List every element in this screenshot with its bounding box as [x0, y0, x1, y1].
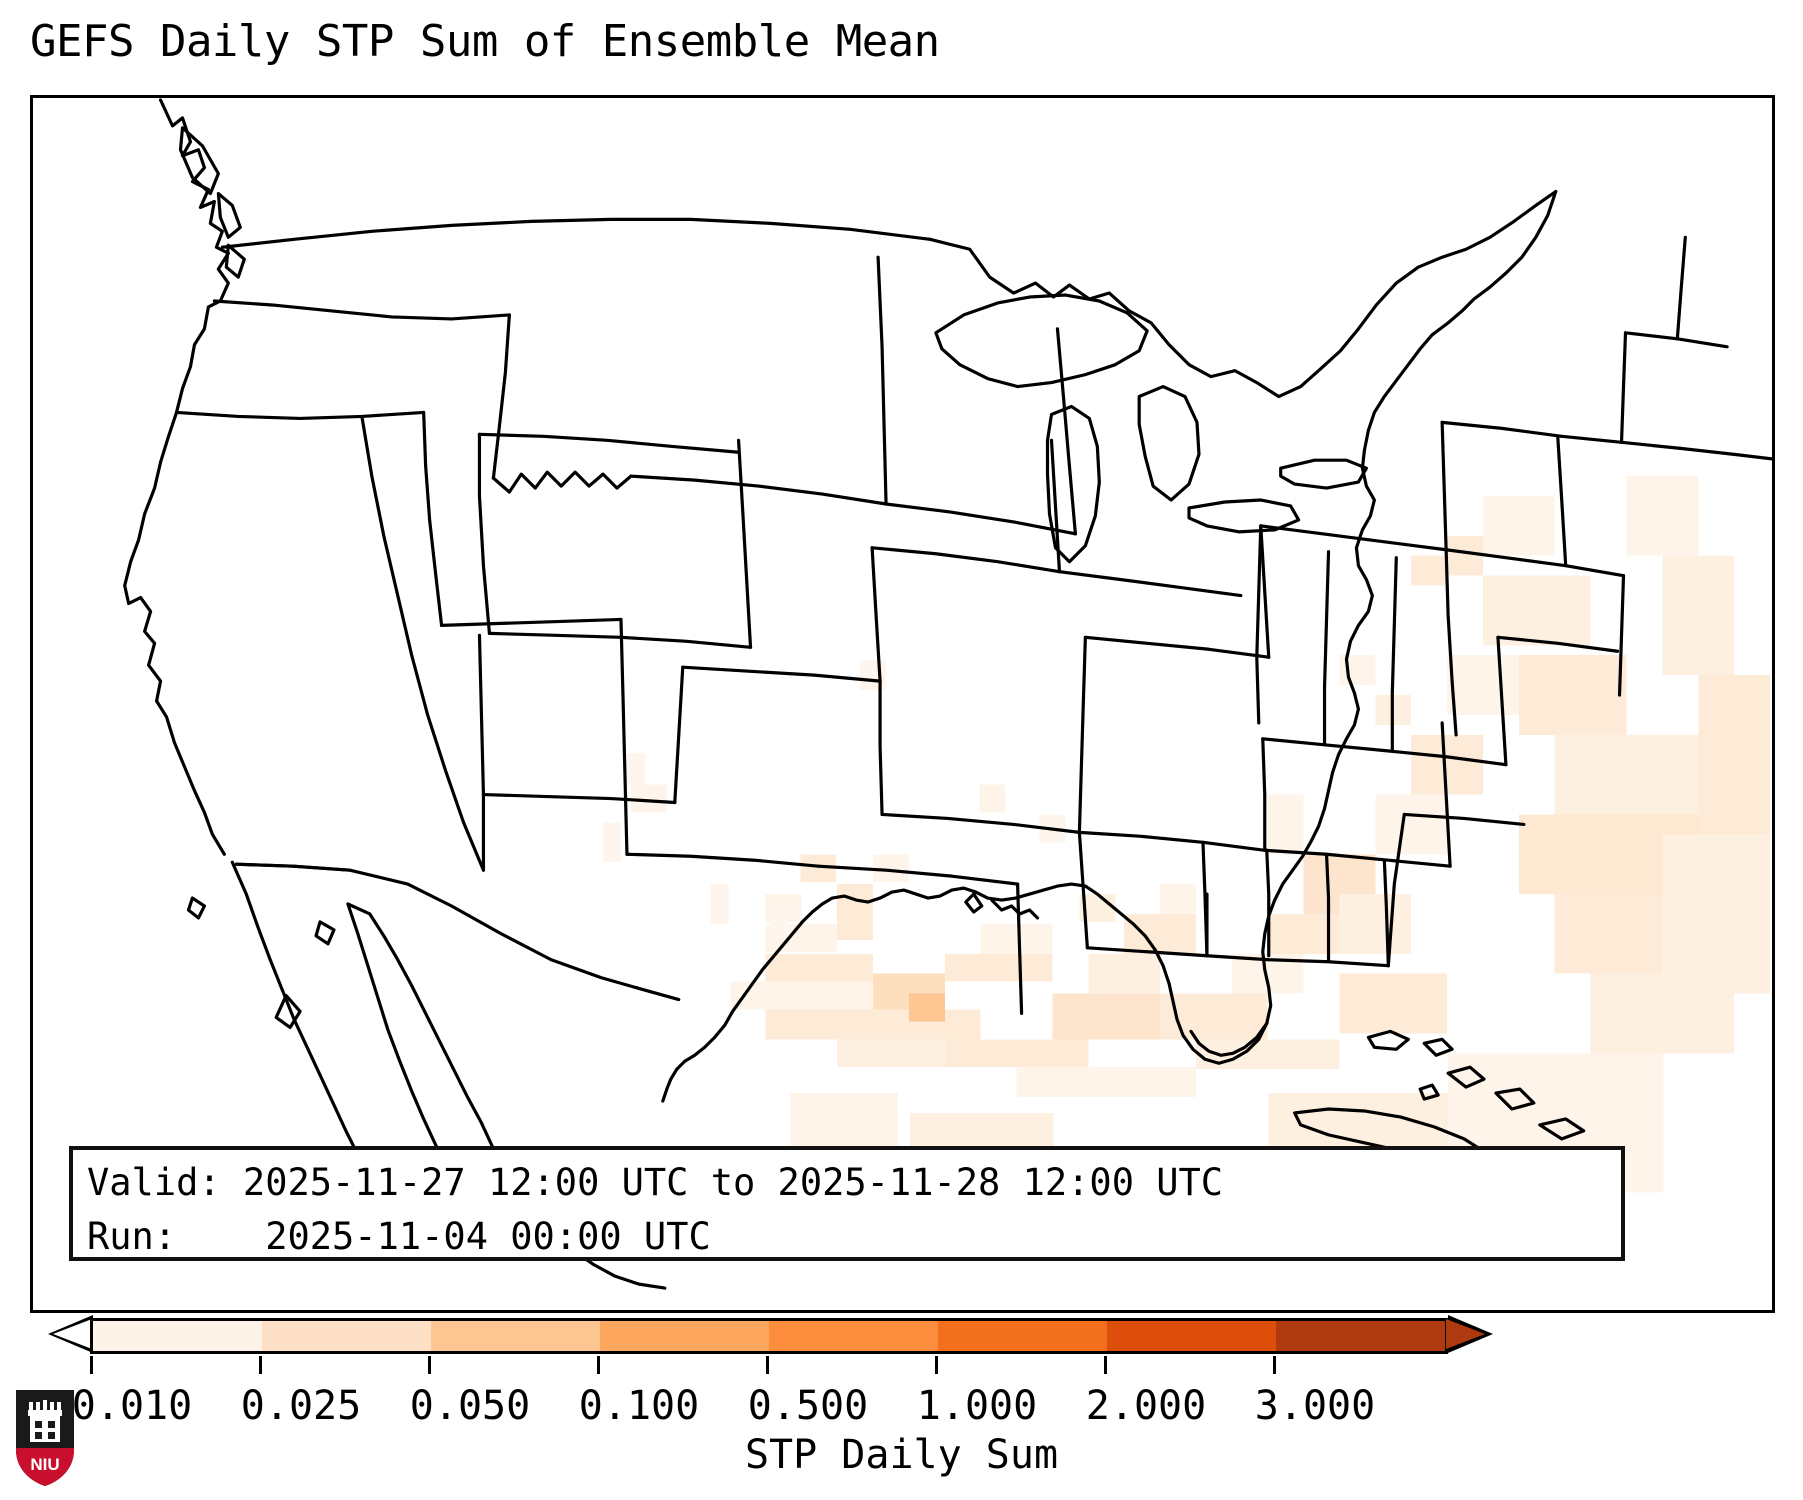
- colorbar-segment-0: [93, 1321, 262, 1351]
- colorbar-tick-label-4: 0.500: [748, 1383, 868, 1429]
- colorbar-segment-2: [431, 1321, 600, 1351]
- colorbar-segment-5: [938, 1321, 1107, 1351]
- valid-run-infobox: Valid: 2025-11-27 12:00 UTC to 2025-11-2…: [69, 1146, 1625, 1261]
- colorbar-tick-2: [428, 1356, 431, 1374]
- colorbar[interactable]: [90, 1318, 1448, 1354]
- colorbar-tick-5: [935, 1356, 938, 1374]
- colorbar-axis-title: STP Daily Sum: [0, 1432, 1803, 1478]
- colorbar-tick-label-5: 1.000: [917, 1383, 1037, 1429]
- colorbar-tick-label-7: 3.000: [1255, 1383, 1375, 1429]
- colorbar-tick-6: [1104, 1356, 1107, 1374]
- colorbar-container: [0, 1310, 1803, 1358]
- colorbar-tick-7: [1273, 1356, 1276, 1374]
- colorbar-tick-0: [90, 1356, 93, 1374]
- colorbar-tick-label-6: 2.000: [1086, 1383, 1206, 1429]
- colorbar-tick-label-2: 0.050: [410, 1383, 530, 1429]
- colorbar-tick-4: [766, 1356, 769, 1374]
- colorbar-segment-7: [1276, 1321, 1445, 1351]
- colorbar-segment-1: [262, 1321, 431, 1351]
- colorbar-tick-label-3: 0.100: [579, 1383, 699, 1429]
- colorbar-over-arrow-fill: [1446, 1319, 1485, 1349]
- colorbar-tick-label-0: 0.010: [72, 1383, 192, 1429]
- map-panel: Valid: 2025-11-27 12:00 UTC to 2025-11-2…: [30, 95, 1775, 1313]
- colorbar-segment-6: [1107, 1321, 1276, 1351]
- colorbar-under-arrow-fill: [53, 1319, 92, 1349]
- colorbar-tick-label-1: 0.025: [241, 1383, 361, 1429]
- colorbar-tick-1: [259, 1356, 262, 1374]
- page-title: GEFS Daily STP Sum of Ensemble Mean: [30, 16, 940, 67]
- colorbar-segment-3: [600, 1321, 769, 1351]
- niu-logo-text: NIU: [30, 1455, 59, 1474]
- colorbar-segment-4: [769, 1321, 938, 1351]
- run-time-line: Run: 2025-11-04 00:00 UTC: [87, 1210, 1621, 1264]
- basemap-outlines: [33, 98, 1772, 1310]
- colorbar-tick-3: [597, 1356, 600, 1374]
- niu-logo: NIU: [14, 1388, 76, 1488]
- valid-time-line: Valid: 2025-11-27 12:00 UTC to 2025-11-2…: [87, 1156, 1621, 1210]
